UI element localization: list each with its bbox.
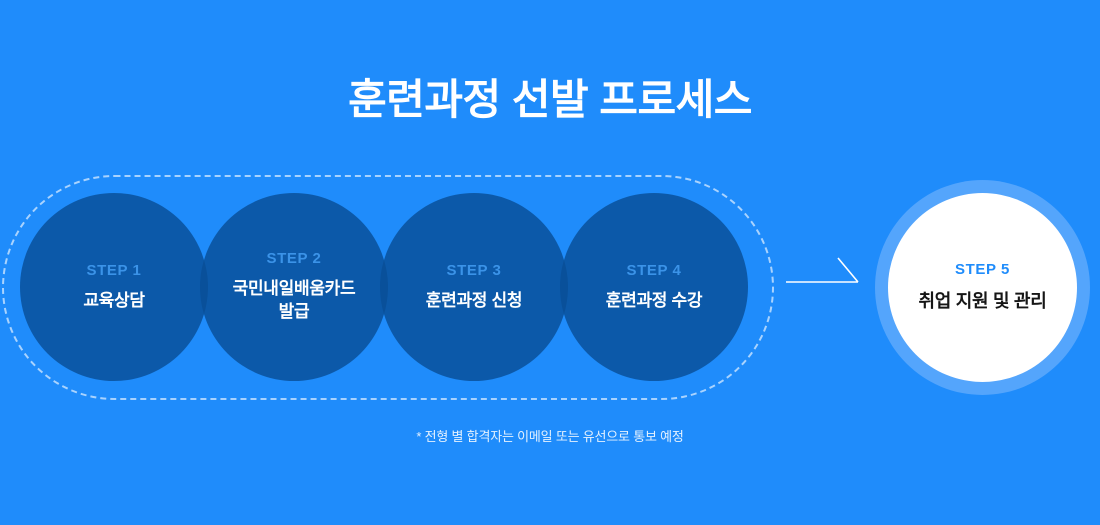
- step-circle-2[interactable]: STEP 2 국민내일배움카드 발급: [200, 193, 388, 381]
- step-5-name: 취업 지원 및 관리: [919, 289, 1047, 313]
- step-3-label: STEP 3: [446, 262, 501, 279]
- process-diagram: 훈련과정 선발 프로세스 STEP 1 교육상담 STEP 2 국민내일배움카드…: [0, 0, 1100, 525]
- step-1-name: 교육상담: [83, 290, 144, 313]
- step-circle-4[interactable]: STEP 4 훈련과정 수강: [560, 193, 748, 381]
- step-5-label: STEP 5: [955, 261, 1010, 278]
- step-circle-1[interactable]: STEP 1 교육상담: [20, 193, 208, 381]
- step-4-name: 훈련과정 수강: [606, 290, 702, 313]
- step-2-name: 국민내일배움카드 발급: [233, 278, 356, 324]
- step-2-label: STEP 2: [266, 250, 321, 267]
- step-circle-5[interactable]: STEP 5 취업 지원 및 관리: [888, 193, 1077, 382]
- step-4-label: STEP 4: [626, 262, 681, 279]
- step-1-label: STEP 1: [86, 262, 141, 279]
- step-3-name: 훈련과정 신청: [426, 290, 522, 313]
- footnote-text: * 전형 별 합격자는 이메일 또는 유선으로 통보 예정: [0, 426, 1100, 445]
- step-circle-3[interactable]: STEP 3 훈련과정 신청: [380, 193, 568, 381]
- arrow-right-icon: [786, 252, 864, 288]
